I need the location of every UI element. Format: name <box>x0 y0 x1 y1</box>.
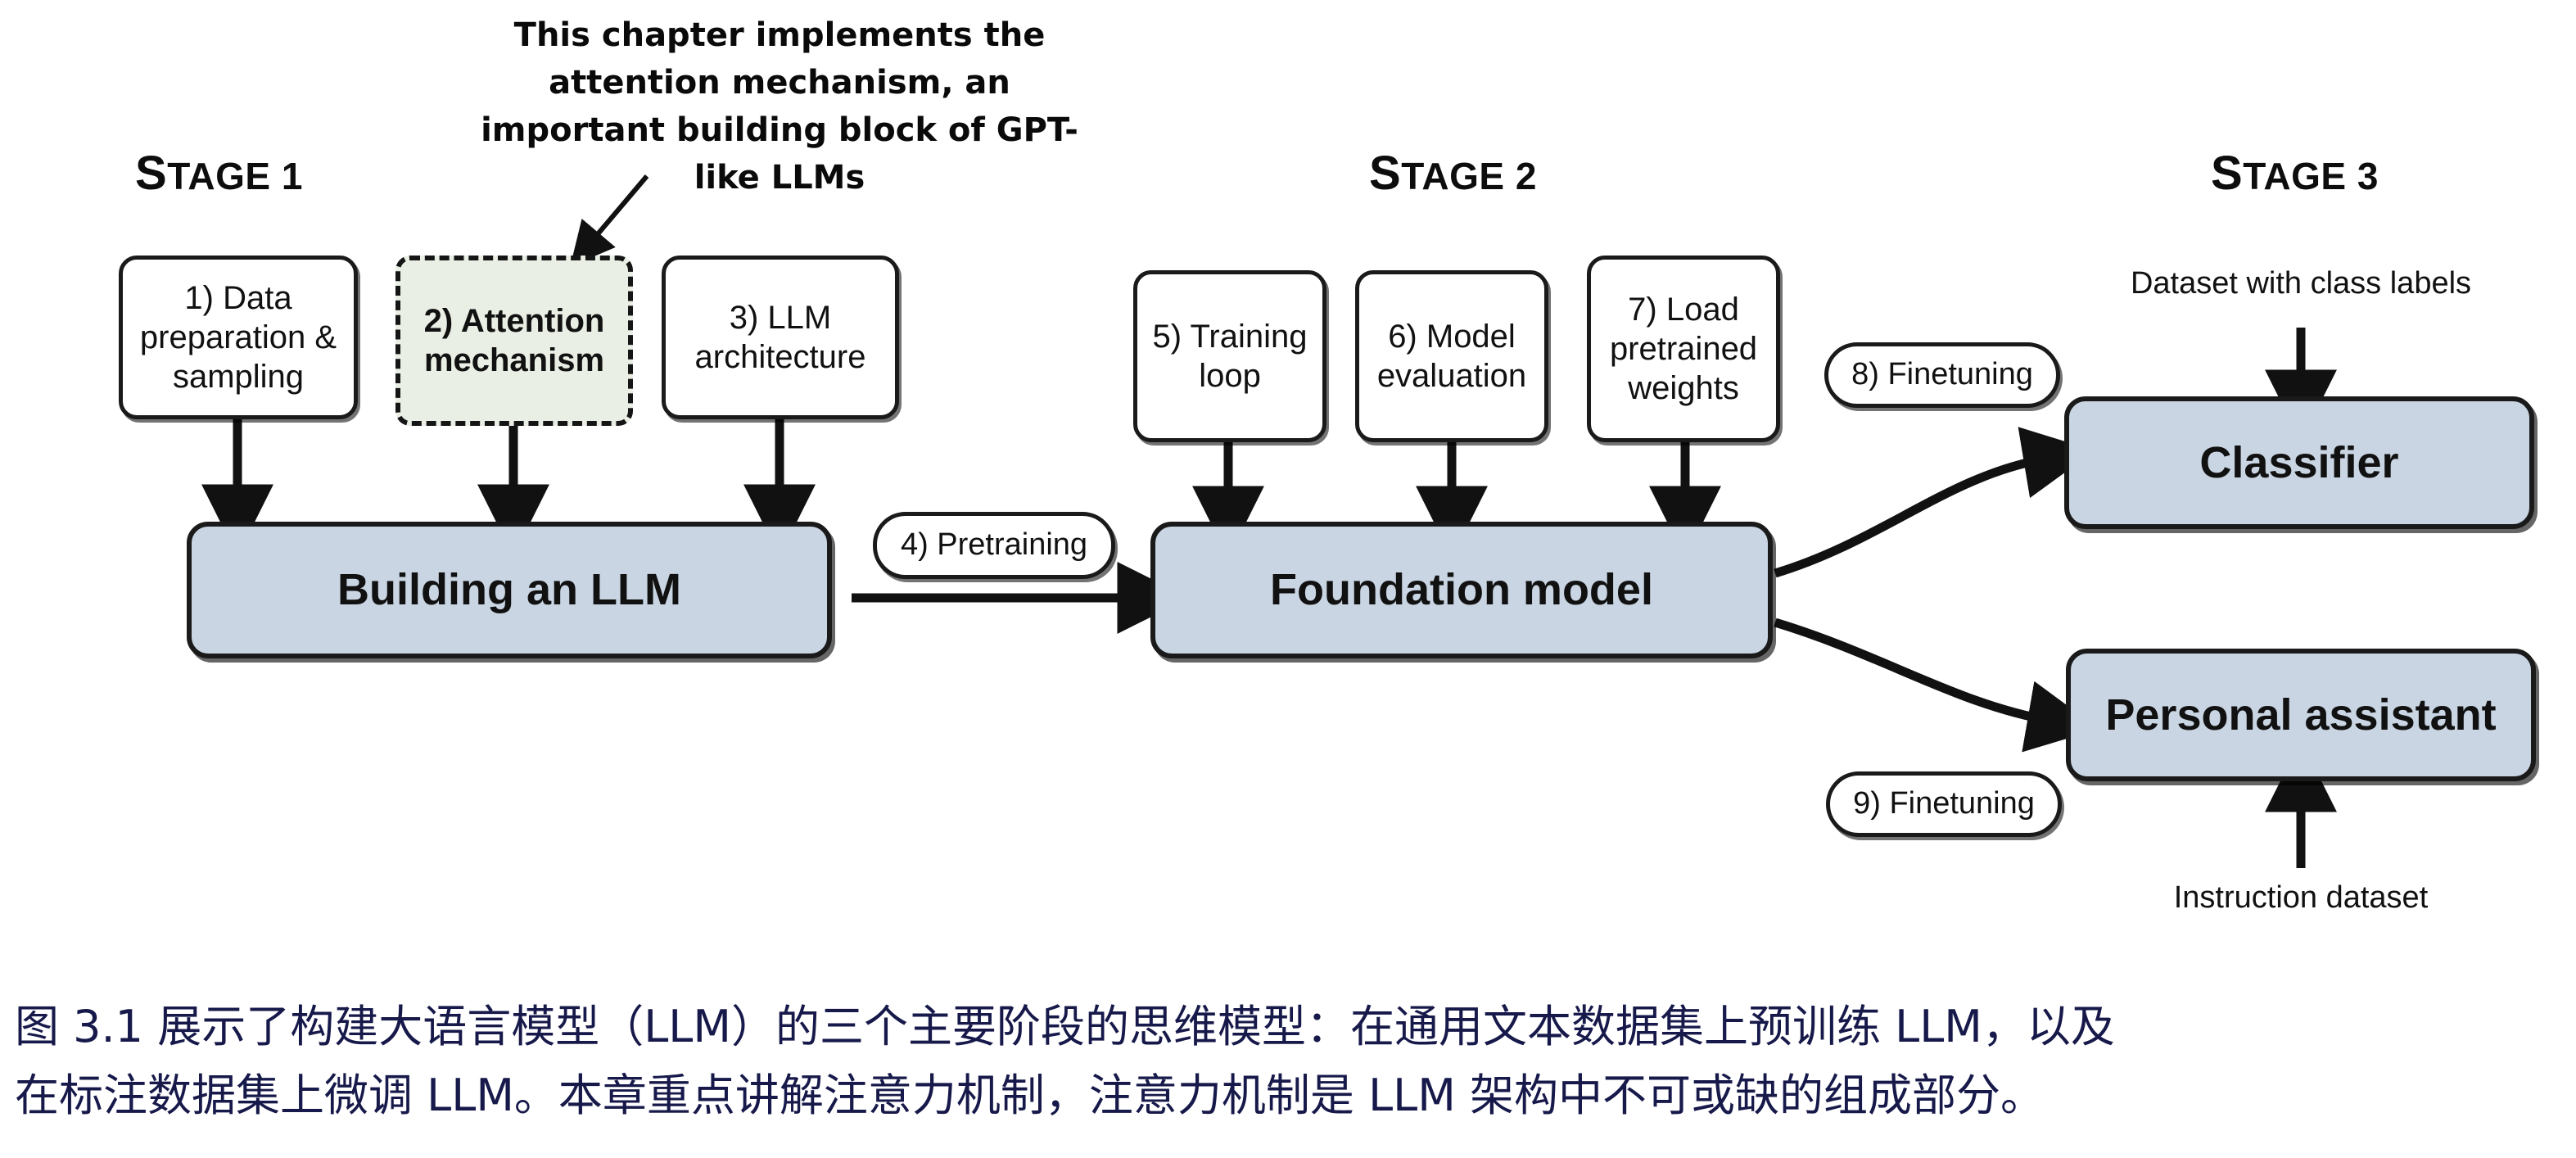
dataset-with-class-labels-label: Dataset with class labels <box>2055 266 2547 301</box>
stage-3-title-cap: S <box>2211 147 2243 200</box>
figure-caption-line-2: 在标注数据集上微调 LLM。本章重点讲解注意力机制，注意力机制是 LLM 架构中… <box>15 1061 2561 1130</box>
chapter-callout-note: This chapter implements the attention me… <box>468 11 1091 201</box>
figure-caption-line-1: 图 3.1 展示了构建大语言模型（LLM）的三个主要阶段的思维模型：在通用文本数… <box>15 993 2561 1061</box>
stage-2-title-rest: TAGE 2 <box>1401 155 1537 197</box>
arrow-foundation-to-classifier <box>1775 459 2047 573</box>
classifier-box[interactable]: Classifier <box>2064 396 2534 529</box>
step-4-pretraining-pill[interactable]: 4) Pretraining <box>873 512 1115 579</box>
step-9-finetuning-pill[interactable]: 9) Finetuning <box>1826 771 2062 837</box>
building-an-llm-box[interactable]: Building an LLM <box>187 522 832 658</box>
foundation-model-box[interactable]: Foundation model <box>1150 522 1773 658</box>
stage-1-title-rest: TAGE 1 <box>167 155 303 197</box>
step-1-data-preparation-box[interactable]: 1) Data preparation & sampling <box>119 256 358 419</box>
stage-2-title: STAGE 2 <box>1369 146 1537 201</box>
stage-1-title-cap: S <box>135 147 167 200</box>
arrow-foundation-to-assistant <box>1775 622 2051 721</box>
figure-caption: 图 3.1 展示了构建大语言模型（LLM）的三个主要阶段的思维模型：在通用文本数… <box>15 993 2561 1129</box>
step-5-training-loop-box[interactable]: 5) Training loop <box>1133 270 1326 442</box>
step-7-load-pretrained-weights-box[interactable]: 7) Load pretrained weights <box>1587 256 1780 442</box>
step-6-model-evaluation-box[interactable]: 6) Model evaluation <box>1355 270 1548 442</box>
step-8-finetuning-pill[interactable]: 8) Finetuning <box>1824 342 2060 408</box>
step-3-llm-architecture-box[interactable]: 3) LLM architecture <box>662 256 899 419</box>
personal-assistant-box[interactable]: Personal assistant <box>2066 649 2536 781</box>
instruction-dataset-label: Instruction dataset <box>2096 880 2506 916</box>
stage-3-title-rest: TAGE 3 <box>2243 155 2379 197</box>
llm-stages-diagram: This chapter implements the attention me… <box>0 0 2576 966</box>
stage-2-title-cap: S <box>1369 147 1401 200</box>
stage-1-title: STAGE 1 <box>135 146 303 201</box>
step-2-attention-mechanism-box[interactable]: 2) Attention mechanism <box>395 256 633 426</box>
stage-3-title: STAGE 3 <box>2211 146 2379 201</box>
